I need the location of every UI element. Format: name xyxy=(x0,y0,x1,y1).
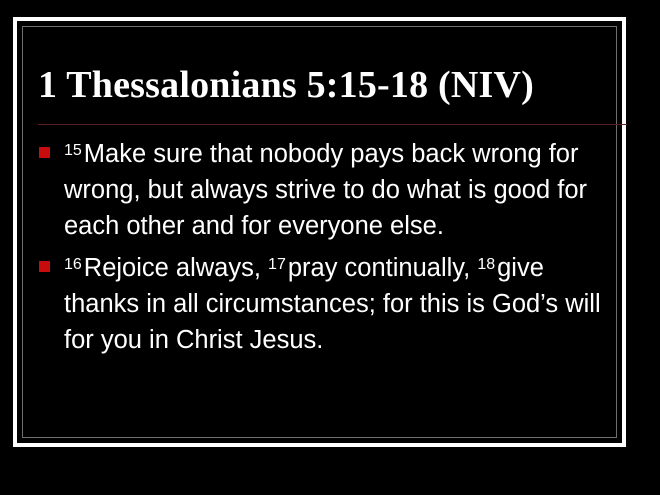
list-item: 16Rejoice always, 17pray continually, 18… xyxy=(36,250,624,358)
square-bullet-icon xyxy=(39,147,50,158)
verse-number: 18 xyxy=(477,256,497,273)
square-bullet-icon xyxy=(39,261,50,272)
presentation-slide: 1 Thessalonians 5:15-18 (NIV) 15Make sur… xyxy=(0,0,660,495)
verse-number: 16 xyxy=(64,256,84,273)
verse-text: Make sure that nobody pays back wrong fo… xyxy=(64,140,587,240)
verse-text: pray continually, xyxy=(288,254,477,282)
list-item: 15Make sure that nobody pays back wrong … xyxy=(36,136,624,244)
verse-text: Rejoice always, xyxy=(84,254,268,282)
verse-number: 17 xyxy=(268,256,288,273)
verse-number: 15 xyxy=(64,142,84,159)
slide-title: 1 Thessalonians 5:15-18 (NIV) xyxy=(38,62,628,108)
title-divider-rule xyxy=(38,124,627,125)
scripture-bullet-list: 15Make sure that nobody pays back wrong … xyxy=(36,136,624,364)
